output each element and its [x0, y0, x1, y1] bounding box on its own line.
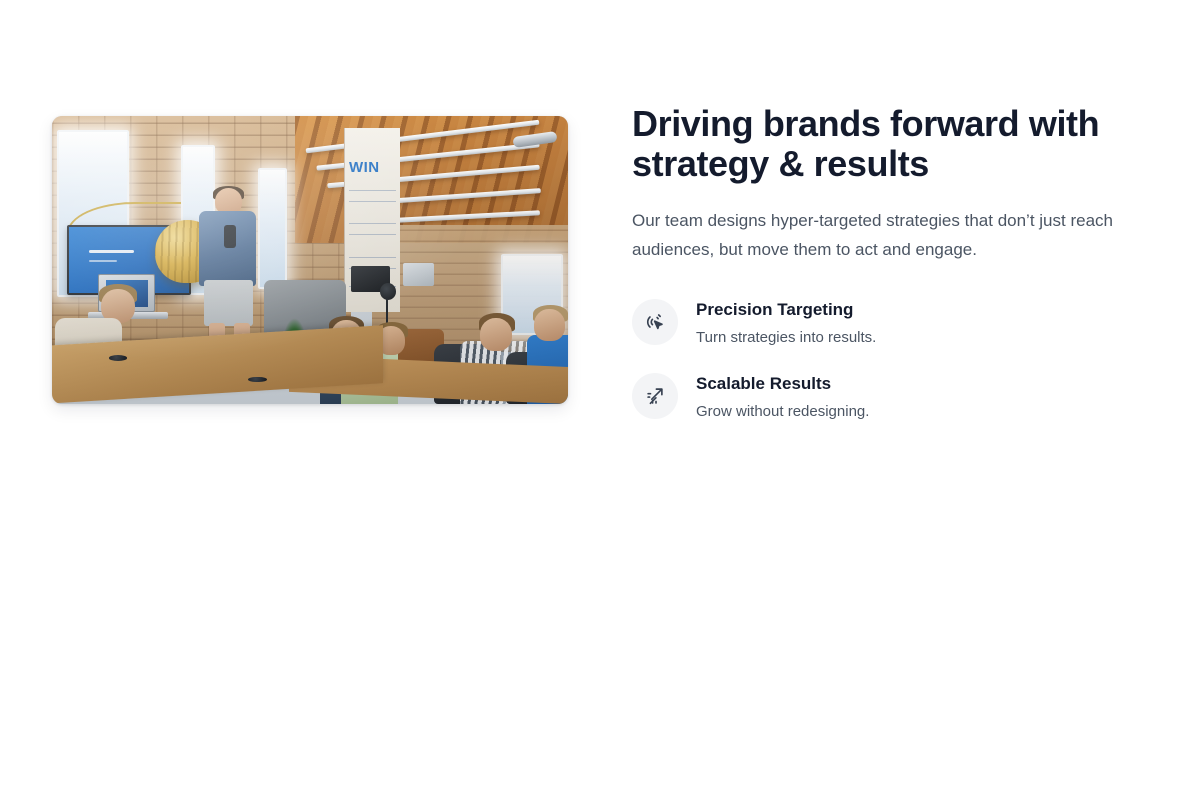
cursor-click-icon — [632, 299, 678, 345]
feature-text-block: Scalable Results Grow without redesignin… — [696, 372, 869, 422]
landing-feature-page: WIN — [0, 0, 1200, 800]
microphone — [224, 225, 236, 248]
feature-list: Precision Targeting Turn strategies into… — [632, 298, 1148, 422]
presenter-torso — [199, 211, 256, 286]
photo-scene: WIN — [52, 116, 568, 404]
feature-text-block: Precision Targeting Turn strategies into… — [696, 298, 876, 348]
feature-description: Turn strategies into results. — [696, 328, 876, 348]
feature-title: Scalable Results — [696, 373, 869, 395]
table-puck-1 — [109, 355, 128, 361]
wood-ceiling — [295, 116, 568, 243]
presenter-shorts — [204, 280, 253, 326]
feature-item-precision-targeting[interactable]: Precision Targeting Turn strategies into… — [632, 298, 1148, 348]
wall-graphic-text: WIN — [349, 159, 380, 176]
attendee-head-4 — [480, 318, 512, 351]
window-c — [258, 168, 286, 289]
expand-arrow-icon — [632, 373, 678, 419]
desk-monitor-light — [403, 263, 434, 286]
text-column: Driving brands forward with strategy & r… — [632, 100, 1148, 422]
feature-title: Precision Targeting — [696, 299, 876, 321]
feature-description: Grow without redesigning. — [696, 402, 869, 422]
section-subtitle: Our team designs hyper-targeted strategi… — [632, 206, 1148, 264]
media-column: WIN — [52, 100, 568, 404]
page-title: Driving brands forward with strategy & r… — [632, 104, 1148, 184]
feature-section: WIN — [52, 100, 1148, 422]
attendee-head-5 — [534, 309, 565, 341]
office-meeting-photo: WIN — [52, 116, 568, 404]
feature-item-scalable-results[interactable]: Scalable Results Grow without redesignin… — [632, 372, 1148, 422]
